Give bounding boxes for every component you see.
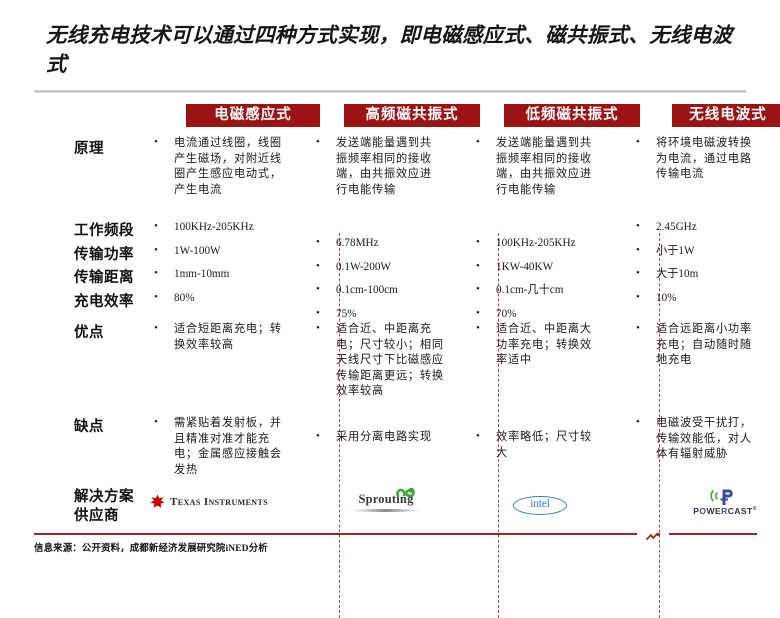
- column-header-radio-wave: 无线电波式: [672, 104, 780, 127]
- cell-frequency-col4: 2.45GHz: [634, 220, 774, 236]
- cell-disadvantages-col1: 需紧贴着发射板，并且精准对准才能充电；金属感应接触会发热: [152, 416, 284, 478]
- cell-advantages-col4: 适合远距离小功率充电；自动随时随地充电: [634, 322, 760, 369]
- powercast-antenna-icon: [690, 488, 760, 505]
- row-label-disadvantages: 缺点: [74, 418, 104, 437]
- intel-logo: intel: [513, 496, 567, 515]
- powercast-label: POWERCAST®: [690, 506, 760, 516]
- texas-instruments-logo: Texas Instruments: [150, 494, 268, 510]
- cell-disadvantages-col4: 电磁波受干扰打，传输效能低，对人体有辐射威胁: [634, 416, 760, 463]
- cell-distance-col2: 0.1cm-100cm: [314, 283, 454, 299]
- row-label-power: 传输功率: [74, 246, 134, 265]
- texas-instruments-label: Texas Instruments: [170, 496, 268, 508]
- row-label-advantages: 优点: [74, 324, 104, 343]
- sprouting-underline: [349, 509, 423, 512]
- row-label-principle: 原理: [74, 140, 104, 159]
- cell-frequency-col2: 6.78MHz: [314, 236, 454, 252]
- column-header-low-frequency-resonance: 低频磁共振式: [504, 104, 640, 127]
- cell-disadvantages-col3: 效率略低；尺寸较大: [474, 430, 602, 461]
- title-divider: [34, 90, 746, 93]
- cell-principle-col3: 发送端能量遇到共振频率相同的接收端，由共振效应进行电能传输: [474, 136, 602, 198]
- cell-power-col3: 1KW-40KW: [474, 260, 616, 276]
- row-label-suppliers: 解决方案 供应商: [74, 488, 134, 526]
- column-header-high-frequency-resonance: 高频磁共振式: [344, 104, 480, 127]
- cell-efficiency-col4: 10%: [634, 291, 774, 307]
- row-label-efficiency: 充电效率: [74, 293, 134, 312]
- page-title: 无线充电技术可以通过四种方式实现，即电磁感应式、磁共振式、无线电波式: [46, 22, 752, 80]
- sprouting-logo: Sprouting: [343, 490, 429, 513]
- footer-divider-left: [34, 533, 637, 535]
- cell-power-col1: 1W-100W: [152, 244, 292, 260]
- cell-advantages-col1: 适合短距离充电；转换效率较高: [152, 322, 284, 353]
- cell-distance-col1: 1mm-10mm: [152, 267, 292, 283]
- cell-efficiency-col3: 70%: [474, 307, 616, 323]
- ined-logo-mark: [645, 529, 663, 539]
- powercast-logo: POWERCAST®: [690, 488, 760, 516]
- cell-power-col4: 小于1W: [634, 244, 774, 260]
- cell-advantages-col3: 适合近、中距离大功率充电；转换效率适中: [474, 322, 602, 369]
- row-label-frequency: 工作频段: [74, 222, 134, 241]
- cell-principle-col4: 将环境电磁波转换为电流，通过电路传输电流: [634, 136, 760, 183]
- cell-principle-col2: 发送端能量遇到共振频率相同的接收端，由共振效应进行电能传输: [314, 136, 442, 198]
- cell-power-col2: 0.1W-200W: [314, 260, 454, 276]
- cell-efficiency-col1: 80%: [152, 291, 292, 307]
- column-header-electromagnetic-induction: 电磁感应式: [186, 104, 320, 127]
- cell-distance-col3: 0.1cm-几十cm: [474, 283, 616, 299]
- footer-divider-right: [669, 533, 757, 535]
- cell-distance-col4: 大于10m: [634, 267, 774, 283]
- ti-star-icon: [150, 494, 165, 510]
- cell-advantages-col2: 适合近、中距离充电；尺寸较小；相同天线尺寸下比磁感应传输距离更远；转换效率较高: [314, 322, 444, 400]
- sprouting-leaf-icon: [395, 487, 417, 500]
- cell-frequency-col1: 100KHz-205KHz: [152, 220, 292, 236]
- cell-frequency-col3: 100KHz-205KHz: [474, 236, 616, 252]
- cell-principle-col1: 电流通过线圈，线圈产生磁场，对附近线圈产生感应电动式，产生电流: [152, 136, 282, 198]
- row-label-distance: 传输距离: [74, 269, 134, 288]
- comparison-table: 电磁感应式 高频磁共振式 低频磁共振式 无线电波式 原理 工作频段 传输功率 传…: [34, 100, 748, 520]
- cell-efficiency-col2: 75%: [314, 307, 454, 323]
- source-note: 信息来源：公开资料，成都新经济发展研究院iNED分析: [34, 540, 268, 554]
- cell-disadvantages-col2: 采用分离电路实现: [314, 430, 444, 446]
